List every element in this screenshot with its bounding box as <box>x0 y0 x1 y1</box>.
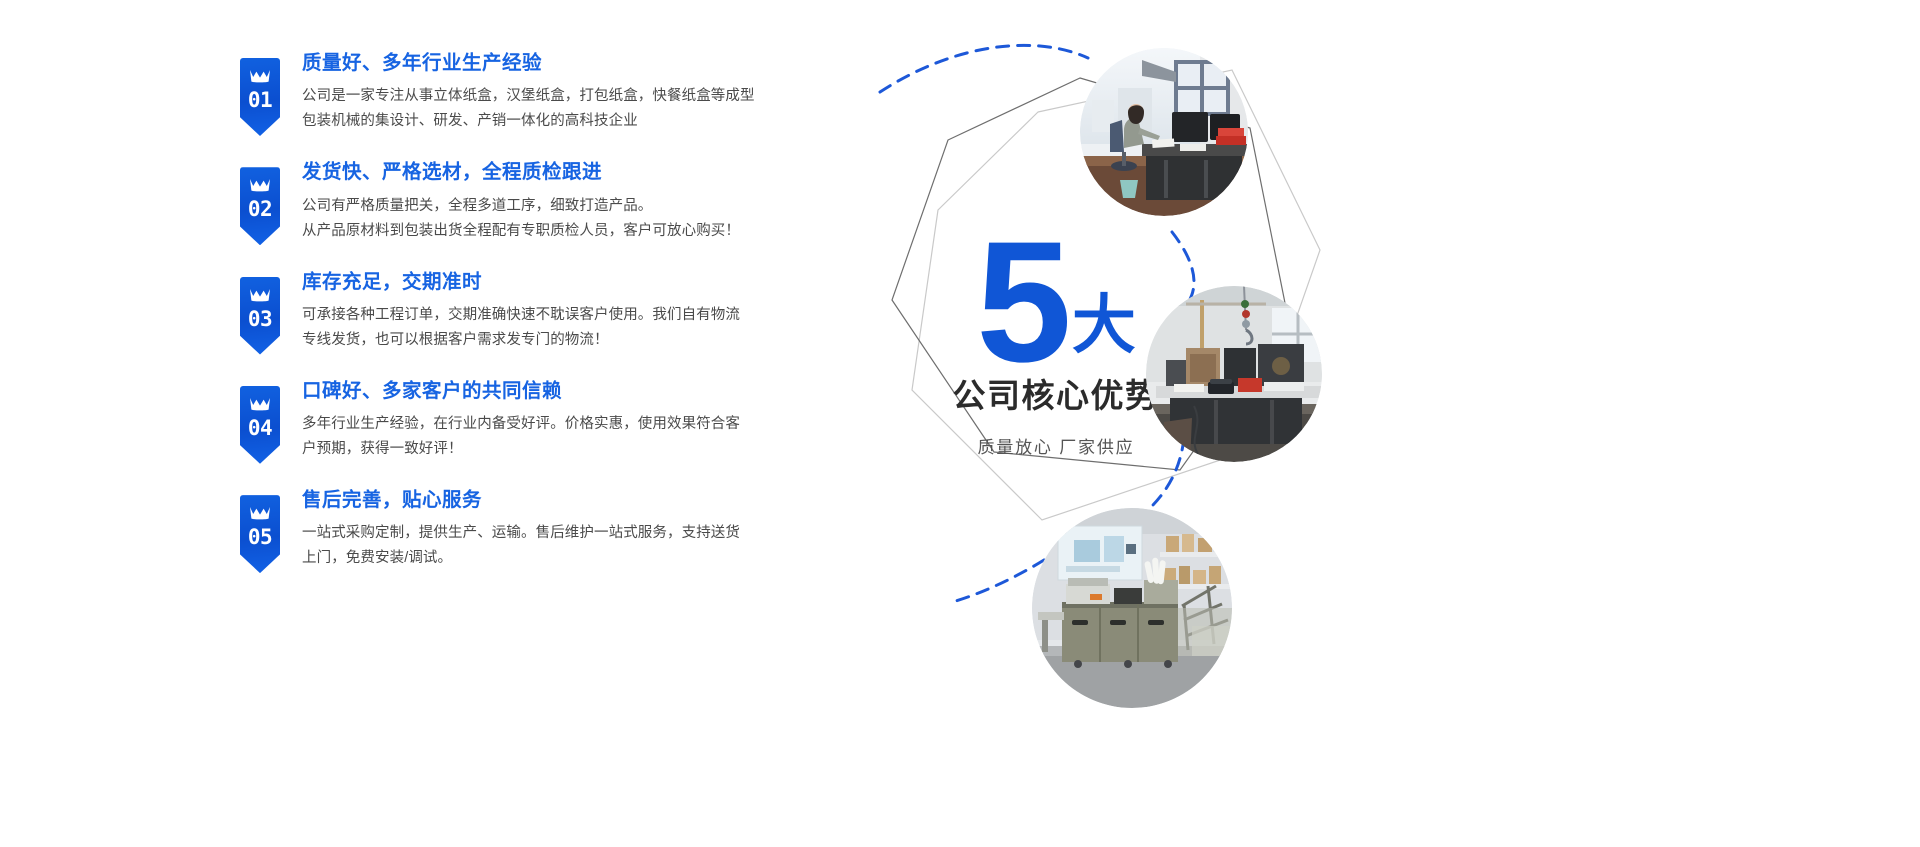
advantage-item-04: 04 口碑好、多家客户的共同信赖 多年行业生产经验，在行业内备受好评。价格实惠，… <box>240 380 770 462</box>
advantage-title: 售后完善，贴心服务 <box>302 489 770 512</box>
hero-number: 5 <box>976 232 1068 373</box>
advantage-list: 01 质量好、多年行业生产经验 公司是一家专注从事立体纸盒，汉堡纸盒，打包纸盒，… <box>240 52 770 571</box>
photo-workshop-office-art <box>1146 286 1322 462</box>
photo-office-workstation <box>1080 48 1248 216</box>
advantage-number: 01 <box>248 90 272 111</box>
advantage-item-05: 05 售后完善，贴心服务 一站式采购定制，提供生产、运输。售后维护一站式服务，支… <box>240 489 770 571</box>
crown-icon <box>249 69 271 88</box>
advantages-banner: 01 质量好、多年行业生产经验 公司是一家专注从事立体纸盒，汉堡纸盒，打包纸盒，… <box>0 0 1920 847</box>
crown-icon <box>249 178 271 197</box>
dashed-connector-bottom <box>952 560 1044 602</box>
advantage-badge-05: 05 <box>240 495 280 573</box>
advantage-body: 公司有严格质量把关，全程多道工序，细致打造产品。 从产品原材料到包装出货全程配有… <box>302 194 770 244</box>
advantage-number: 04 <box>248 418 272 439</box>
advantage-body: 一站式采购定制，提供生产、运输。售后维护一站式服务，支持送货 上门，免费安装/调… <box>302 521 770 571</box>
advantage-number: 03 <box>248 309 272 330</box>
advantage-title: 质量好、多年行业生产经验 <box>302 52 770 75</box>
photo-workshop-office <box>1146 286 1322 462</box>
advantage-title: 口碑好、多家客户的共同信赖 <box>302 380 770 403</box>
advantage-body-line: 包装机械的集设计、研发、产销一体化的高科技企业 <box>302 109 770 134</box>
advantage-body-line: 专线发货，也可以根据客户需求发专门的物流！ <box>302 328 770 353</box>
advantage-title: 库存充足，交期准时 <box>302 271 770 294</box>
hero-unit: 大 <box>1072 299 1136 351</box>
crown-icon <box>249 397 271 416</box>
advantage-body-line: 可承接各种工程订单，交期准确快速不耽误客户使用。我们自有物流 <box>302 303 770 328</box>
advantage-badge-01: 01 <box>240 58 280 136</box>
photo-office-workstation-art <box>1080 48 1248 216</box>
dashed-connector-top <box>880 45 1088 92</box>
advantage-item-03: 03 库存充足，交期准时 可承接各种工程订单，交期准确快速不耽误客户使用。我们自… <box>240 271 770 353</box>
advantage-number: 05 <box>248 527 272 548</box>
advantage-body-line: 公司有严格质量把关，全程多道工序，细致打造产品。 <box>302 194 770 219</box>
advantage-body: 公司是一家专注从事立体纸盒，汉堡纸盒，打包纸盒，快餐纸盒等成型 包装机械的集设计… <box>302 84 770 134</box>
advantage-body-line: 上门，免费安装/调试。 <box>302 546 770 571</box>
photo-packaging-machine-art <box>1032 508 1232 708</box>
advantage-item-01: 01 质量好、多年行业生产经验 公司是一家专注从事立体纸盒，汉堡纸盒，打包纸盒，… <box>240 52 770 134</box>
advantage-number: 02 <box>248 199 272 220</box>
crown-icon <box>249 288 271 307</box>
advantage-body-line: 从产品原材料到包装出货全程配有专职质检人员，客户可放心购买！ <box>302 219 770 244</box>
advantage-title: 发货快、严格选材，全程质检跟进 <box>302 161 770 184</box>
hero-graphic: 5 大 公司核心优势 质量放心 厂家供应 <box>780 0 1920 847</box>
photo-packaging-machine <box>1032 508 1232 708</box>
advantage-badge-02: 02 <box>240 167 280 245</box>
advantage-body-line: 公司是一家专注从事立体纸盒，汉堡纸盒，打包纸盒，快餐纸盒等成型 <box>302 84 770 109</box>
advantage-body-line: 户预期，获得一致好评！ <box>302 437 770 462</box>
advantage-body: 多年行业生产经验，在行业内备受好评。价格实惠，使用效果符合客 户预期，获得一致好… <box>302 412 770 462</box>
advantage-badge-03: 03 <box>240 277 280 355</box>
advantage-item-02: 02 发货快、严格选材，全程质检跟进 公司有严格质量把关，全程多道工序，细致打造… <box>240 161 770 243</box>
advantage-body-line: 一站式采购定制，提供生产、运输。售后维护一站式服务，支持送货 <box>302 521 770 546</box>
advantage-badge-04: 04 <box>240 386 280 464</box>
advantage-body: 可承接各种工程订单，交期准确快速不耽误客户使用。我们自有物流 专线发货，也可以根… <box>302 303 770 353</box>
advantage-body-line: 多年行业生产经验，在行业内备受好评。价格实惠，使用效果符合客 <box>302 412 770 437</box>
crown-icon <box>249 506 271 525</box>
